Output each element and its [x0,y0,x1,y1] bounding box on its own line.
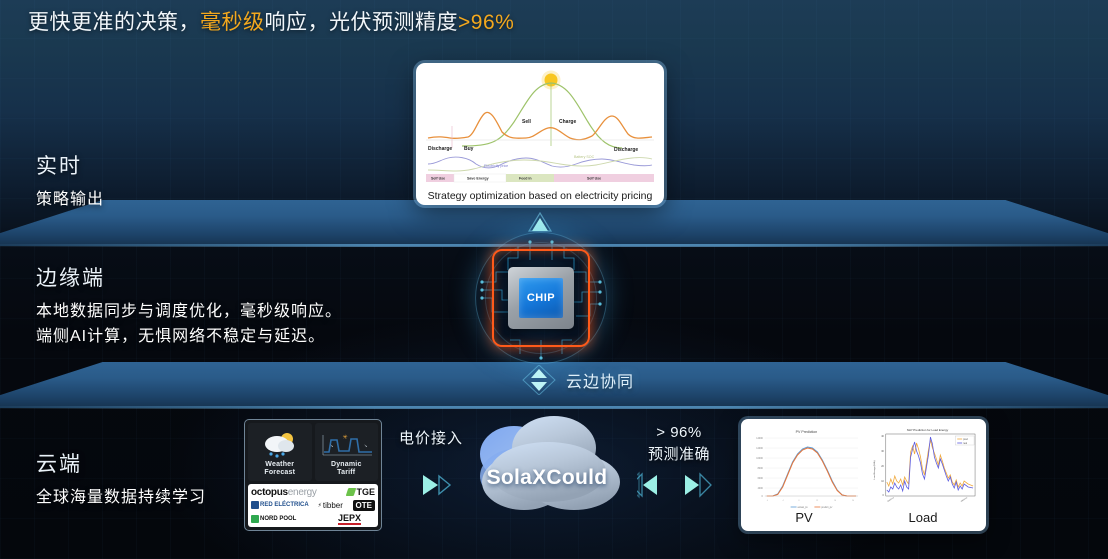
dynamic-tariff-chart-icon: ✳ ↘ ↘ [317,432,375,460]
svg-text:8000: 8000 [758,467,764,470]
tile-weather-caption-2: Forecast [264,469,295,478]
prediction-accuracy-block: > 96% 预测准确 [640,422,718,466]
mode-feed-in: Feed in [519,177,532,181]
edge-title: 边缘端 [36,262,342,292]
logo-jepx-text: JEPX [338,513,361,525]
load-legend: pred real [955,436,974,445]
logo-tge: TGE [356,487,375,497]
pv-chart-caption: PV [747,510,861,525]
svg-text:30: 30 [881,450,884,453]
headline-highlight-2: >96% [458,11,514,34]
mode-save-energy: Save Energy [467,177,489,181]
arrow-up-icon [527,211,553,233]
headline-highlight-1: 毫秒级 [200,11,265,34]
pv-chart-svg: PV Prediction 140001200010000 8000600040… [747,424,861,512]
legend-electricity-price: Electricity price [484,164,508,168]
accuracy-label: 预测准确 [640,444,718,466]
svg-text:↘: ↘ [364,443,367,448]
svg-text:12000: 12000 [756,447,763,450]
accuracy-value: > 96% [640,422,718,444]
tge-mark-icon [346,488,357,496]
edge-chip-module: CHIP [468,232,614,364]
logo-red-electrica: RED ELÉCTRICA [251,501,309,509]
play-left-icon [637,473,657,497]
nord-pool-mark-icon [251,515,259,523]
mode-bar: Self Use Save Energy Feed in Self Use [426,174,654,182]
mode-self-use-2: Self Use [587,177,601,181]
svg-text:4: 4 [783,500,784,502]
load-chart-caption: Load [866,510,980,525]
price-input-label: 电价接入 [399,427,463,448]
chip-label: CHIP [527,292,555,304]
svg-text:actual_pv: actual_pv [798,506,809,509]
logo-octopus-energy: octopusenergy [251,487,317,498]
section-label-realtime: 实时 策略输出 [36,150,104,213]
edge-subtitle-line-2: 端侧AI计算，无惧网络不稳定与延迟。 [36,325,342,350]
red-electrica-mark-icon [251,501,259,509]
svg-text:4000: 4000 [758,487,764,490]
load-xtick-2: datetime [960,496,969,503]
logo-row-1: octopusenergy TGE [251,486,375,498]
data-sources-card: Weather Forecast ✳ ↘ ↘ Dynamic Tariff [244,419,382,531]
cloud-title: 云端 [36,448,206,478]
chip-die: CHIP [519,278,563,318]
logo-row-3: NORD POOL JEPX [251,513,375,525]
svg-text:10000: 10000 [756,457,763,460]
pv-x-ticks: 048 121620 [767,500,854,502]
cloud-subtitle: 全球海量数据持续学习 [36,486,206,511]
headline-part-1: 更快更准的决策， [28,11,200,34]
logo-nord-pool: NORD POOL [251,515,296,523]
play-right-icon [419,470,453,500]
up-down-arrow-icon [522,365,556,395]
strategy-chart: Discharge Buy Sell Charge Discharge Elec… [422,68,658,188]
load-chart-title: NLP Prediction for Load Energy [907,428,949,432]
sync-label: 云边协同 [566,368,634,392]
svg-text:12: 12 [816,500,818,502]
tile-weather-caption-1: Weather [265,461,294,470]
legend-battery-soc: Battery SOC [574,155,595,159]
svg-text:20: 20 [881,465,884,468]
realtime-title: 实时 [36,150,104,180]
logo-jepx: JEPX [338,513,361,525]
logo-ote: OTE [353,500,375,511]
data-sources-tiles: Weather Forecast ✳ ↘ ↘ Dynamic Tariff [248,423,378,481]
realtime-subtitle: 策略输出 [36,188,104,213]
tile-tariff-caption-2: Tariff [337,469,355,478]
data-sources-logos: octopusenergy TGE RED ELÉCTRICA ⚡ tibber… [248,484,378,527]
svg-text:0: 0 [762,495,764,498]
svg-text:40: 40 [881,435,884,438]
load-prediction-chart: NLP Prediction for Load Energy 403020 10… [866,424,980,526]
logo-tibber-text: tibber [323,501,343,510]
svg-text:real: real [963,442,967,445]
play-right-icon-2 [685,474,711,496]
edge-subtitle-line-1: 本地数据同步与调度优化，毫秒级响应。 [36,300,342,325]
svg-text:10: 10 [881,480,884,483]
cloud-shape-icon [462,408,632,520]
weather-cloud-rain-sun-icon [258,430,302,460]
prediction-charts-card: PV Prediction 140001200010000 8000600040… [741,419,986,531]
strategy-optimization-card: Discharge Buy Sell Charge Discharge Elec… [416,63,664,205]
cloud-label: SolaXCould [462,466,632,490]
logo-ote-text: OTE [356,501,372,510]
logo-red-electrica-text: RED ELÉCTRICA [260,502,309,508]
logo-row-2: RED ELÉCTRICA ⚡ tibber OTE [251,499,375,511]
pv-chart-title: PV Prediction [796,430,818,434]
logo-nord-pool-text: NORD POOL [260,516,296,522]
section-label-edge: 边缘端 本地数据同步与调度优化，毫秒级响应。 端侧AI计算，无惧网络不稳定与延迟… [36,262,342,350]
logo-octopus-text: octopus [251,487,288,498]
svg-text:20: 20 [852,500,854,502]
play-direction-arrows [637,470,715,500]
label-sell: Sell [522,119,532,125]
svg-text:16: 16 [834,500,836,502]
logo-tibber: ⚡ tibber [318,501,343,510]
headline-part-2: 响应，光伏预测精度 [265,11,459,34]
svg-text:↘: ↘ [330,443,333,448]
svg-text:8: 8 [799,500,800,502]
load-ylabel: Load Energy (kWh) [873,460,876,479]
chip-package: CHIP [508,267,574,329]
pv-prediction-chart: PV Prediction 140001200010000 8000600040… [747,424,861,526]
svg-text:predict_pv: predict_pv [821,506,833,509]
page-title: 更快更准的决策，毫秒级响应，光伏预测精度>96% [28,6,514,36]
svg-text:pred: pred [963,438,968,441]
pv-legend: actual_pv predict_pv [791,506,833,509]
solax-cloud: SolaXCould [462,408,632,520]
load-chart-svg: NLP Prediction for Load Energy 403020 10… [866,424,980,512]
label-buy: Buy [464,146,474,152]
svg-text:✳: ✳ [343,434,348,441]
strategy-card-caption: Strategy optimization based on electrici… [416,190,664,202]
label-discharge-right: Discharge [614,147,638,153]
label-charge: Charge [559,119,576,125]
svg-text:0: 0 [767,500,768,502]
tile-tariff-caption-1: Dynamic [331,461,362,470]
label-discharge-left: Discharge [428,146,452,152]
tile-weather-forecast: Weather Forecast [248,423,312,481]
logo-energy-text: energy [288,487,317,498]
svg-text:0: 0 [883,494,885,497]
section-label-cloud: 云端 全球海量数据持续学习 [36,448,206,511]
svg-text:6000: 6000 [758,477,764,480]
tibber-mark-icon: ⚡ [318,502,322,509]
logo-tge-group: TGE [347,487,375,497]
tile-dynamic-tariff: ✳ ↘ ↘ Dynamic Tariff [315,423,379,481]
edge-subtitle: 本地数据同步与调度优化，毫秒级响应。 端侧AI计算，无惧网络不稳定与延迟。 [36,300,342,350]
svg-text:14000: 14000 [756,437,763,440]
load-xtick-1: datetime [887,496,896,503]
slide-stage: 更快更准的决策，毫秒级响应，光伏预测精度>96% 实时 策略输出 边缘端 本地数… [0,0,1108,559]
mode-self-use-1: Self Use [431,177,445,181]
